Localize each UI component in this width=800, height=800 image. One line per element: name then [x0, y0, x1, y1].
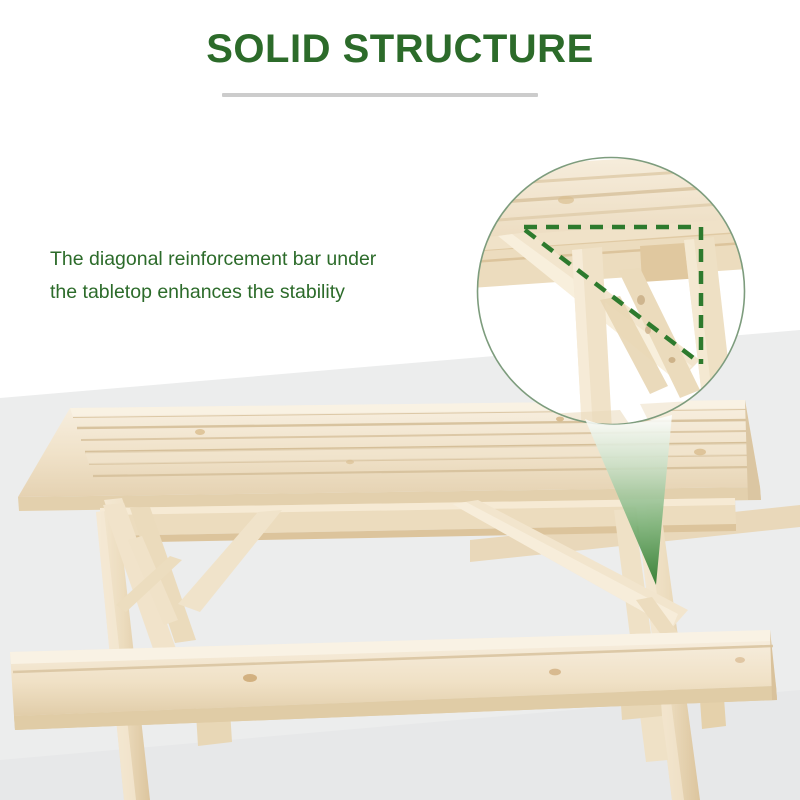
product-illustration — [0, 0, 800, 800]
picnic-table — [10, 400, 800, 800]
infographic-page: SOLID STRUCTURE The diagonal reinforceme… — [0, 0, 800, 800]
